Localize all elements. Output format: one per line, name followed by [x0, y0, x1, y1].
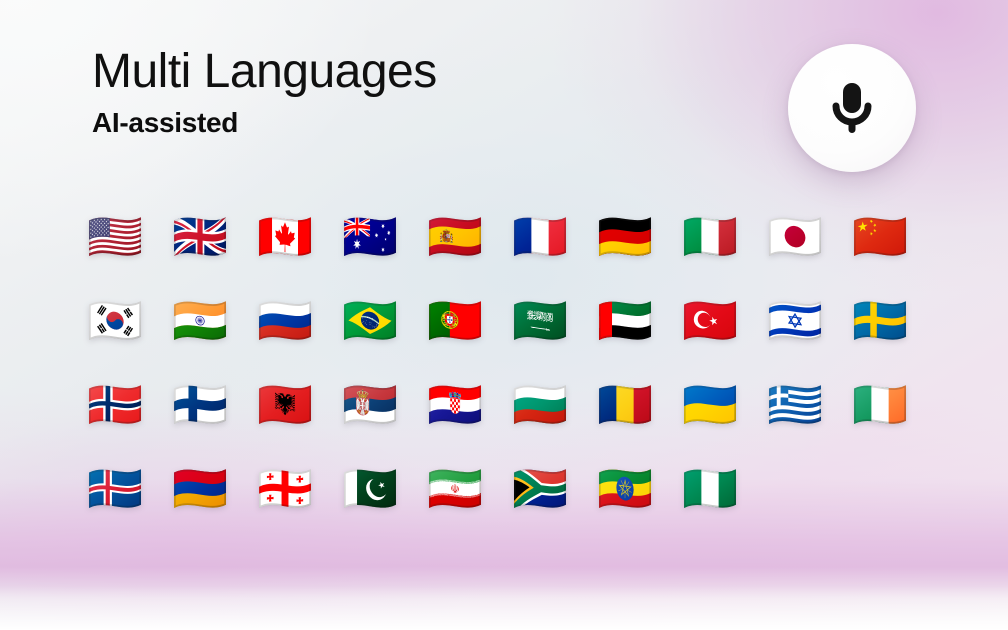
multi-languages-card: Multi Languages AI-assisted 🇺🇸🇬🇧🇨🇦🇦🇺🇪🇸🇫🇷…	[0, 0, 1008, 630]
flag-saudi-arabia[interactable]: 🇸🇦	[513, 290, 567, 351]
flag-portugal[interactable]: 🇵🇹	[428, 290, 482, 351]
flag-row: 🇺🇸🇬🇧🇨🇦🇦🇺🇪🇸🇫🇷🇩🇪🇮🇹🇯🇵🇨🇳	[88, 206, 938, 267]
flag-india[interactable]: 🇮🇳	[173, 290, 227, 351]
flag-canada[interactable]: 🇨🇦	[258, 206, 312, 267]
flag-greece[interactable]: 🇬🇷	[768, 374, 822, 435]
flag-south-africa[interactable]: 🇿🇦	[513, 458, 567, 519]
microphone-button[interactable]	[788, 44, 916, 172]
flag-bulgaria[interactable]: 🇧🇬	[513, 374, 567, 435]
flag-row: 🇳🇴🇫🇮🇦🇱🇷🇸🇭🇷🇧🇬🇷🇴🇺🇦🇬🇷🇮🇪	[88, 374, 938, 435]
flag-georgia[interactable]: 🇬🇪	[258, 458, 312, 519]
flag-ukraine[interactable]: 🇺🇦	[683, 374, 737, 435]
flag-serbia[interactable]: 🇷🇸	[343, 374, 397, 435]
flag-israel[interactable]: 🇮🇱	[768, 290, 822, 351]
flag-albania[interactable]: 🇦🇱	[258, 374, 312, 435]
page-title: Multi Languages	[92, 46, 437, 98]
flag-united-states[interactable]: 🇺🇸	[88, 206, 142, 267]
flag-russia[interactable]: 🇷🇺	[258, 290, 312, 351]
microphone-icon	[825, 79, 879, 137]
flag-armenia[interactable]: 🇦🇲	[173, 458, 227, 519]
flag-japan[interactable]: 🇯🇵	[768, 206, 822, 267]
flag-finland[interactable]: 🇫🇮	[173, 374, 227, 435]
flag-australia[interactable]: 🇦🇺	[343, 206, 397, 267]
flag-row: 🇰🇷🇮🇳🇷🇺🇧🇷🇵🇹🇸🇦🇦🇪🇹🇷🇮🇱🇸🇪	[88, 290, 938, 351]
flag-south-korea[interactable]: 🇰🇷	[88, 290, 142, 351]
flag-norway[interactable]: 🇳🇴	[88, 374, 142, 435]
flag-nigeria[interactable]: 🇳🇬	[683, 458, 737, 519]
flag-turkey[interactable]: 🇹🇷	[683, 290, 737, 351]
flag-spain[interactable]: 🇪🇸	[428, 206, 482, 267]
flag-ethiopia[interactable]: 🇪🇹	[598, 458, 652, 519]
flag-united-arab-emirates[interactable]: 🇦🇪	[598, 290, 652, 351]
flag-iceland[interactable]: 🇮🇸	[88, 458, 142, 519]
flag-romania[interactable]: 🇷🇴	[598, 374, 652, 435]
flag-grid: 🇺🇸🇬🇧🇨🇦🇦🇺🇪🇸🇫🇷🇩🇪🇮🇹🇯🇵🇨🇳🇰🇷🇮🇳🇷🇺🇧🇷🇵🇹🇸🇦🇦🇪🇹🇷🇮🇱🇸🇪…	[88, 206, 938, 519]
flag-germany[interactable]: 🇩🇪	[598, 206, 652, 267]
flag-sweden[interactable]: 🇸🇪	[853, 290, 907, 351]
flag-row: 🇮🇸🇦🇲🇬🇪🇵🇰🇮🇷🇿🇦🇪🇹🇳🇬	[88, 458, 938, 519]
flag-iran[interactable]: 🇮🇷	[428, 458, 482, 519]
page-subtitle: AI-assisted	[92, 108, 437, 139]
flag-italy[interactable]: 🇮🇹	[683, 206, 737, 267]
flag-croatia[interactable]: 🇭🇷	[428, 374, 482, 435]
flag-france[interactable]: 🇫🇷	[513, 206, 567, 267]
flag-ireland[interactable]: 🇮🇪	[853, 374, 907, 435]
flag-pakistan[interactable]: 🇵🇰	[343, 458, 397, 519]
flag-brazil[interactable]: 🇧🇷	[343, 290, 397, 351]
header: Multi Languages AI-assisted	[92, 46, 437, 139]
flag-united-kingdom[interactable]: 🇬🇧	[173, 206, 227, 267]
flag-china[interactable]: 🇨🇳	[853, 206, 907, 267]
